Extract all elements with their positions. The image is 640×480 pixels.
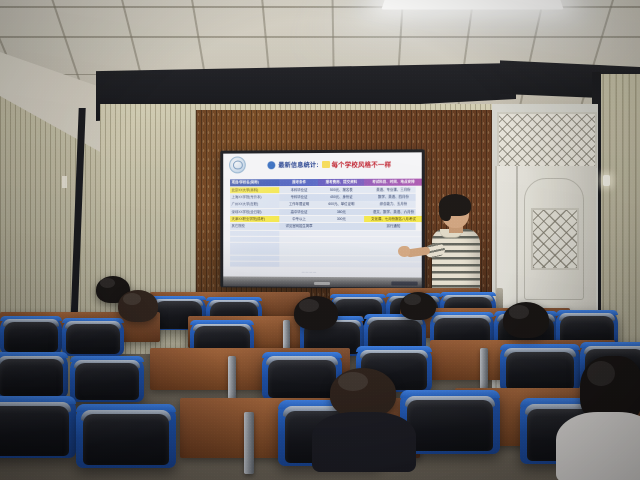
- table-cell: 文化课、七月份报名八月考试: [364, 216, 422, 222]
- table-cell: 600元、单位证明: [318, 201, 364, 207]
- screen-brand-logo-icon: [314, 281, 330, 284]
- table-cell: 380元: [318, 209, 364, 215]
- table-cell: [279, 256, 317, 262]
- table-row: [230, 230, 416, 236]
- highlight-marker-icon: [322, 161, 330, 168]
- table-cell: [318, 237, 364, 242]
- lecture-hall-photo: 最新信息统计: 每个学校风格不一样 项目/学校名(简称) 报考条件 报考费用、提…: [0, 0, 640, 480]
- table-cell: [364, 231, 422, 237]
- table-cell: [279, 249, 317, 255]
- screen-bezel: 最新信息统计: 每个学校风格不一样 项目/学校名(简称) 报考条件 报考费用、提…: [223, 152, 422, 277]
- transom-lattice-pattern: [499, 114, 595, 166]
- table-cell: [230, 255, 279, 261]
- table-cell: 深圳XX学校(全日制): [230, 209, 279, 215]
- table-cell: 中专以上: [279, 216, 317, 222]
- presenter-hand-pointing: [398, 246, 410, 257]
- table-header-cell: 报考条件: [279, 179, 317, 186]
- seat-post-3a: [228, 356, 236, 400]
- table-row: [230, 249, 416, 255]
- table-row: 其它院校详见官网招生简章另行通知: [230, 223, 416, 230]
- slide-title-highlight: 每个学校风格不一样: [332, 160, 392, 169]
- table-row: [230, 255, 416, 261]
- seat-pad: [268, 360, 337, 398]
- table-cell: [318, 231, 364, 236]
- table-blank-rows: [230, 230, 416, 267]
- seat-row-4-2[interactable]: [76, 404, 176, 468]
- table-cell: [230, 230, 279, 235]
- table-cell: 专科毕业证: [279, 194, 317, 200]
- slide-header: 最新信息统计: 每个学校风格不一样: [223, 152, 422, 176]
- seat-pad: [0, 406, 69, 456]
- table-cell: [364, 262, 422, 268]
- shirt-stripes: [432, 229, 480, 297]
- table-cell: 450元、身份证: [318, 194, 364, 201]
- slide-content: 最新信息统计: 每个学校风格不一样 项目/学校名(简称) 报考条件 报考费用、提…: [223, 152, 422, 277]
- table-cell: 英语、专业课、三月份: [364, 187, 422, 194]
- slide-title-primary: 最新信息统计:: [278, 160, 318, 169]
- presenter-hair-side: [439, 204, 451, 221]
- seat-post-4a: [244, 412, 254, 474]
- table-cell: 300元: [318, 216, 364, 222]
- wall-lamp: [603, 175, 610, 186]
- table-header-row: 项目/学校名(简称) 报考条件 报考费用、提交资料 考试科目、时间、地点安排: [230, 179, 416, 187]
- table-cell: 其它院校: [230, 223, 279, 229]
- table-cell: 北京XX大学(本科): [230, 187, 279, 193]
- table-cell: 语文、数学、英语、六月份: [364, 209, 422, 215]
- student-left-mid: [118, 290, 158, 322]
- seat-post-3b: [480, 348, 488, 390]
- student-right-mid: [503, 302, 549, 338]
- table-cell: 500元、报名表: [318, 187, 364, 194]
- table-cell: [318, 243, 364, 249]
- table-cell: [318, 256, 364, 262]
- slide-footer: — — — —: [302, 270, 316, 274]
- table-cell: 详见官网招生简章: [279, 223, 317, 229]
- seat-pad: [0, 359, 63, 396]
- table-row: 深圳XX学校(全日制)高中毕业证380元语文、数学、英语、六月份: [230, 209, 416, 216]
- student-right-back: [400, 292, 436, 320]
- table-cell: 另行通知: [364, 223, 422, 229]
- screen-bottom-bezel: [223, 276, 422, 287]
- university-emblem-icon: [229, 156, 246, 173]
- table-cell: 广州XX大学(在职): [230, 202, 279, 208]
- table-cell: [279, 243, 317, 248]
- slide-table: 项目/学校名(简称) 报考条件 报考费用、提交资料 考试科目、时间、地点安排 北…: [230, 179, 416, 269]
- seat-pad: [75, 363, 139, 400]
- table-cell: 本科毕业证: [279, 187, 317, 193]
- seat-row-3-2[interactable]: [70, 356, 144, 402]
- table-cell: 综合能力、五月份: [364, 201, 422, 208]
- door-handle[interactable]: [496, 288, 503, 310]
- seat-pad: [506, 352, 575, 390]
- table-cell: [279, 262, 317, 268]
- seat-pad: [407, 400, 493, 451]
- table-row: 上海XX学院(专升本)专科毕业证450元、身份证数学、英语、四月份: [230, 194, 416, 201]
- door-lattice-pattern: [533, 210, 577, 268]
- seat-row-2-1[interactable]: [0, 316, 62, 354]
- table-cell: [230, 262, 279, 268]
- seat-pad: [66, 324, 119, 354]
- table-cell: [279, 231, 317, 236]
- seat-row-2-2[interactable]: [62, 318, 124, 356]
- door-window: [531, 208, 579, 270]
- bullet-number-icon: [267, 161, 275, 169]
- table-row: [230, 262, 416, 268]
- student-right-front: [330, 368, 396, 418]
- ceiling-light-left: [381, 0, 563, 9]
- screen-label-tag: [391, 281, 417, 285]
- table-cell: 天津XX职业学院(成考): [230, 216, 279, 222]
- table-cell: [230, 243, 279, 248]
- presentation-screen[interactable]: 最新信息统计: 每个学校风格不一样 项目/学校名(简称) 报考条件 报考费用、提…: [220, 149, 425, 288]
- table-cell: 工作年限证明: [279, 201, 317, 207]
- table-cell: [364, 237, 422, 243]
- student-foreground-right-shoulder: [556, 412, 640, 480]
- table-cell: [318, 262, 364, 268]
- seat-row-3-1[interactable]: [0, 352, 68, 398]
- table-cell: [230, 237, 279, 242]
- student-right-front-shoulder: [312, 412, 416, 472]
- table-header-cell: 考试科目、时间、地点安排: [364, 179, 422, 186]
- table-body: 北京XX大学(本科)本科毕业证500元、报名表英语、专业课、三月份上海XX学院(…: [230, 187, 416, 230]
- seat-row-3-5[interactable]: [500, 344, 580, 392]
- wall-marker: [62, 176, 67, 188]
- presenter-shirt: [432, 229, 480, 297]
- table-cell: 数学、英语、四月份: [364, 194, 422, 201]
- table-row: 北京XX大学(本科)本科毕业证500元、报名表英语、专业课、三月份: [230, 187, 416, 194]
- table-header-cell: 报考费用、提交资料: [318, 179, 364, 186]
- table-row: [230, 243, 416, 249]
- table-cell: [230, 249, 279, 255]
- table-cell: [318, 249, 364, 255]
- seat-row-4-1[interactable]: [0, 396, 76, 458]
- table-cell: [279, 237, 317, 242]
- table-row: 天津XX职业学院(成考)中专以上300元文化课、七月份报名八月考试: [230, 216, 416, 222]
- seat-pad: [4, 322, 57, 352]
- ceiling-grid-line: [0, 36, 640, 38]
- table-row: [230, 237, 416, 243]
- door-transom-window: [497, 112, 597, 168]
- table-row: 广州XX大学(在职)工作年限证明600元、单位证明综合能力、五月份: [230, 201, 416, 208]
- table-header-cell: 项目/学校名(简称): [230, 179, 279, 186]
- table-cell: 上海XX学院(专升本): [230, 194, 279, 200]
- table-cell: [318, 223, 364, 229]
- seat-pad: [83, 414, 169, 465]
- table-cell: 高中毕业证: [279, 209, 317, 215]
- student-center: [294, 296, 338, 330]
